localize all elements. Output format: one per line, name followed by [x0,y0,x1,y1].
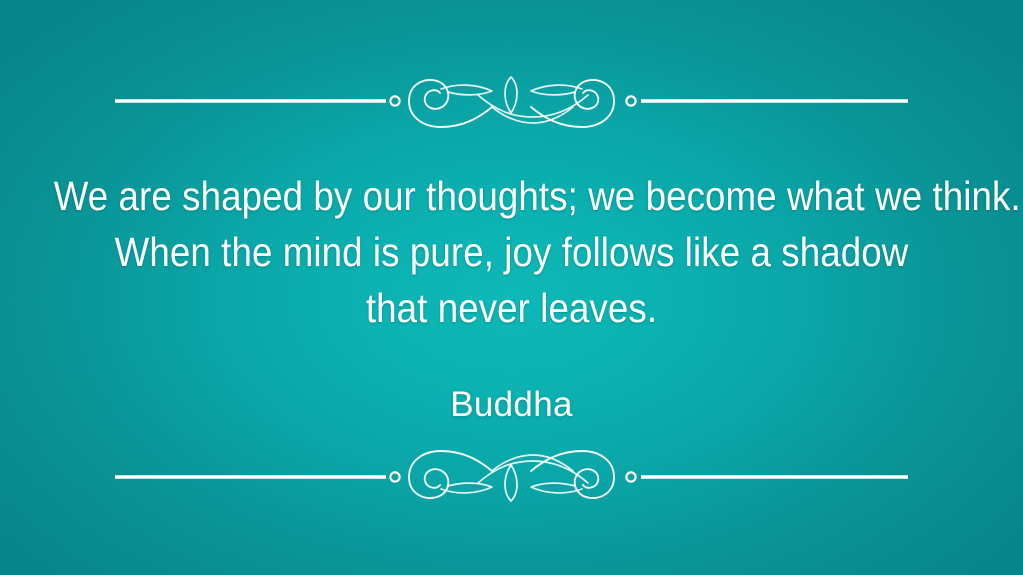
quote-attribution: Buddha [0,382,1023,428]
scroll-right [531,451,614,498]
divider-dot-right [626,96,635,105]
scroll-right [531,80,614,127]
divider-dot-left [390,472,399,481]
scroll-left [409,80,492,127]
center-leaf [505,77,517,113]
quote-text-block: We are shaped by our thoughts; we become… [0,168,1023,336]
quote-slide: We are shaped by our thoughts; we become… [0,0,1023,575]
divider-dot-left [390,96,399,105]
quote-line-1: We are shaped by our thoughts; we become… [54,168,970,224]
quote-line-3: that never leaves. [54,280,970,336]
divider-dot-right [626,472,635,481]
flourish-divider-top [0,55,1023,147]
quote-line-2: When the mind is pure, joy follows like … [54,224,970,280]
center-leaf [505,465,517,501]
scroll-left [409,451,492,498]
flourish-divider-bottom [0,431,1023,523]
